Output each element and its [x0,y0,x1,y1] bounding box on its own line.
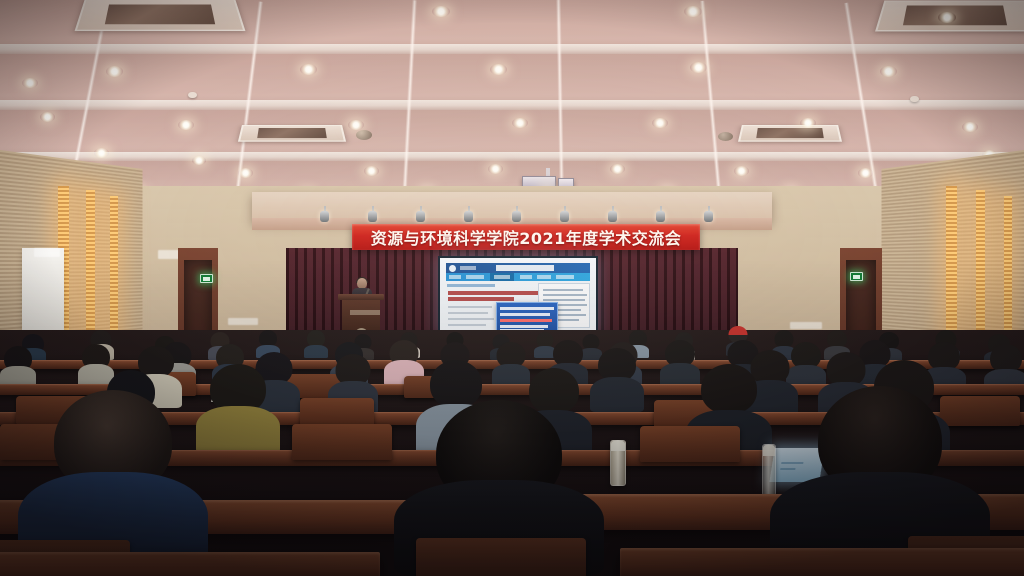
torso-olive-sweater [196,406,280,454]
ceiling-downlight [364,166,379,176]
track-spotlight [608,206,617,222]
ceiling-downlight [94,148,109,158]
stage-banner-text: 资源与环境科学学院2021年度学术交流会 [371,225,682,249]
stage-banner: 资源与环境科学学院2021年度学术交流会 [352,224,700,250]
smoke-detector-icon [188,92,197,98]
ceiling-downlight [880,66,897,77]
ceiling-beam [0,44,1024,54]
ceiling-downlight [684,6,702,17]
ceiling-downlight [800,118,816,128]
slide-body-line [448,312,488,314]
slide-body-line [448,306,492,308]
chair-back[interactable] [292,424,392,460]
slide-heading-line [448,297,514,301]
ceiling-downlight [490,64,507,75]
ceiling-speaker-icon [356,130,372,140]
head [701,364,757,414]
slide-tooltip-popup [496,302,558,332]
track-spotlight [368,206,377,222]
ceiling-downlight [488,164,503,174]
ceiling-downlight [690,62,707,73]
wall-plaque [790,322,822,329]
slide-nav-item [466,275,484,279]
ceiling-panel-band [0,54,1024,100]
ceiling-downlight [962,122,978,132]
audience-member [304,330,328,358]
chair-back[interactable] [300,398,374,426]
slide-nav-item [520,275,532,279]
slide-brand-text [460,266,476,270]
ac-vent-icon [738,125,842,142]
desk-row-front[interactable] [0,552,380,576]
slide-body-line [448,324,486,326]
slide-nav-item [556,275,574,279]
ceiling-downlight [192,156,206,165]
torso [304,345,328,358]
audience-member-olive-sweater [196,364,280,454]
track-spotlight [464,206,473,222]
slide-breadcrumb [447,284,495,287]
flask-lid [611,441,625,451]
chair-back[interactable] [416,538,586,576]
ceiling-downlight [858,168,873,178]
smoke-detector-icon [910,96,919,102]
slide-heading-line [448,291,544,295]
projection-screen-content [440,258,596,334]
ceiling-beam [0,100,1024,110]
ac-vent-icon [238,125,346,142]
vacuum-flask[interactable] [610,440,626,486]
ceiling-downlight [178,120,194,130]
ceiling-downlight [734,166,749,176]
ceiling-downlight [652,118,668,128]
track-spotlight [416,206,425,222]
conference-hall-photo: 资源与环境科学学院2021年度学术交流会 [0,0,1024,576]
ceiling-downlight [610,164,625,174]
audience-member [0,346,36,386]
ceiling-speaker-icon [718,132,733,141]
track-spotlight [512,206,521,222]
track-spotlight [320,206,329,222]
ceiling-downlight [512,118,528,128]
track-spotlight [704,206,713,222]
ceiling-downlight [22,78,38,88]
ceiling-downlight [40,112,55,122]
desk-row-front[interactable] [620,548,1024,576]
exit-sign-left [200,274,213,283]
ceiling-downlight [348,120,364,130]
ceiling-downlight [106,66,123,77]
slide-nav-item [494,275,510,279]
slide-nav-item [537,275,551,279]
ceiling-downlight [238,168,253,178]
slide-tooltip-line [500,307,554,310]
ceiling-downlight [432,6,450,17]
slide-tooltip-line [500,313,550,316]
slide-tooltip-line-highlight [500,319,552,322]
torso [0,366,36,386]
slide-body-line [448,318,494,320]
slide-panel-line [543,289,583,291]
slide-nav-item [449,275,461,279]
wall-plaque [228,318,258,325]
ceiling-downlight [300,64,317,75]
chair-back[interactable] [640,426,740,462]
slide-logo-icon [449,265,456,272]
slide-tooltip-line [500,325,548,328]
wall-plaque [34,248,60,257]
ceiling-downlight [938,12,956,23]
projection-screen [438,256,598,336]
track-spotlight [560,206,569,222]
track-spotlight [656,206,665,222]
slide-panel-line [543,299,585,301]
slide-panel-line [543,294,587,296]
slide-title-text [496,265,554,271]
podium-nameplate [350,310,380,315]
ac-vent-icon [75,0,246,31]
exit-sign-right [850,272,863,281]
